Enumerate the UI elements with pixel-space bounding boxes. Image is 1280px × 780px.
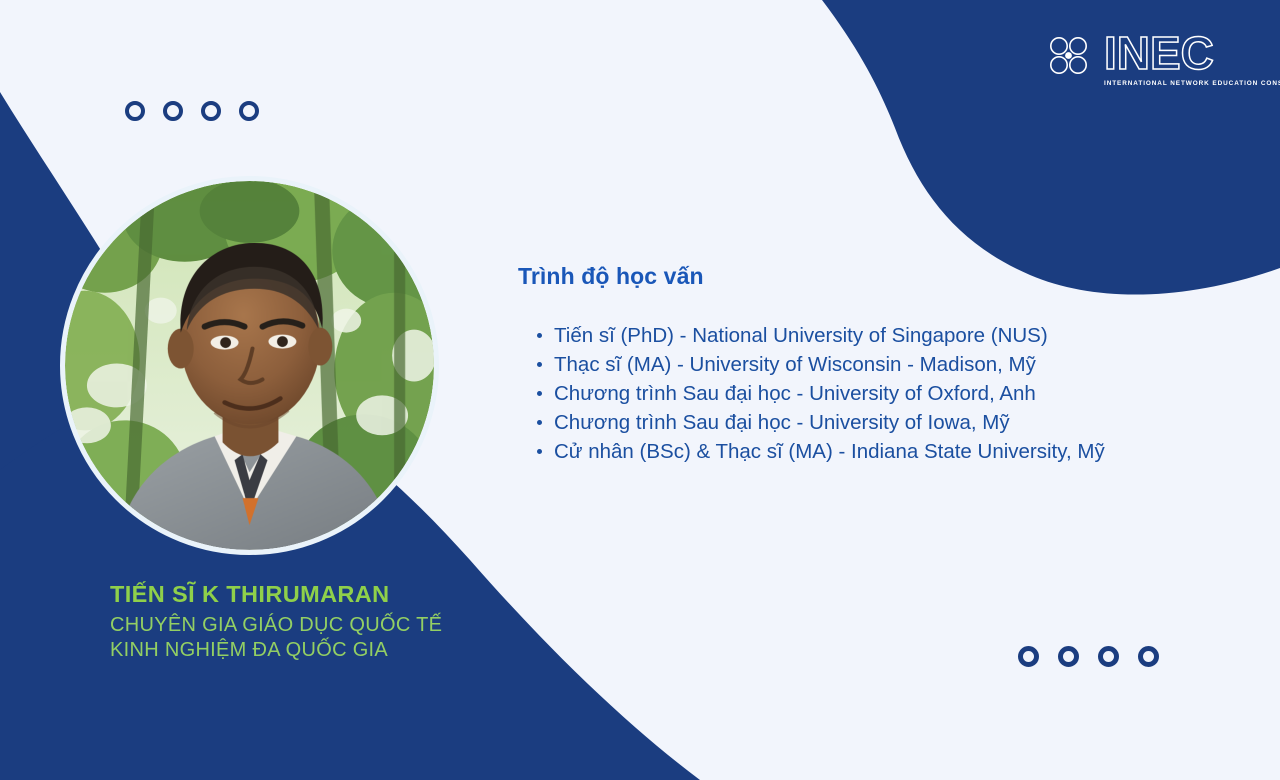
person-role-line-2: KINH NGHIỆM ĐA QUỐC GIA — [110, 638, 630, 663]
list-item: Cử nhân (BSc) & Thạc sĩ (MA) - Indiana S… — [518, 437, 1218, 466]
person-photo — [65, 181, 434, 550]
list-item: Chương trình Sau đại học - University of… — [518, 408, 1218, 437]
person-role-line-1: CHUYÊN GIA GIÁO DỤC QUỐC TẾ — [110, 613, 630, 638]
slide-canvas: INEC INTERNATIONAL NETWORK EDUCATION CON… — [0, 0, 1280, 780]
ring-dot-icon — [163, 101, 183, 121]
ring-dot-icon — [1058, 646, 1079, 667]
list-item: Tiến sĩ (PhD) - National University of S… — [518, 321, 1218, 350]
person-name-block: TIẾN SĨ K THIRUMARAN CHUYÊN GIA GIÁO DỤC… — [110, 580, 630, 663]
ring-dot-icon — [1018, 646, 1039, 667]
education-heading: Trình độ học vấn — [518, 263, 1218, 291]
decorative-dots-top — [125, 101, 259, 121]
logo-tagline: INTERNATIONAL NETWORK EDUCATION CONSULTA… — [1104, 80, 1280, 87]
logo-text-group: INEC INTERNATIONAL NETWORK EDUCATION CON… — [1104, 31, 1280, 86]
inec-logo: INEC INTERNATIONAL NETWORK EDUCATION CON… — [1044, 22, 1262, 94]
ring-dot-icon — [1098, 646, 1119, 667]
logo-wordmark: INEC — [1104, 31, 1214, 76]
ring-dot-icon — [201, 101, 221, 121]
inec-flower-icon — [1044, 32, 1096, 84]
ring-dot-icon — [239, 101, 259, 121]
person-name: TIẾN SĨ K THIRUMARAN — [110, 580, 630, 608]
decorative-dots-bottom — [1018, 646, 1159, 667]
education-list: Tiến sĩ (PhD) - National University of S… — [518, 321, 1218, 466]
education-section: Trình độ học vấn Tiến sĩ (PhD) - Nationa… — [518, 263, 1218, 466]
ring-dot-icon — [125, 101, 145, 121]
list-item: Thạc sĩ (MA) - University of Wisconsin -… — [518, 350, 1218, 379]
ring-dot-icon — [1138, 646, 1159, 667]
avatar — [60, 176, 439, 555]
list-item: Chương trình Sau đại học - University of… — [518, 379, 1218, 408]
